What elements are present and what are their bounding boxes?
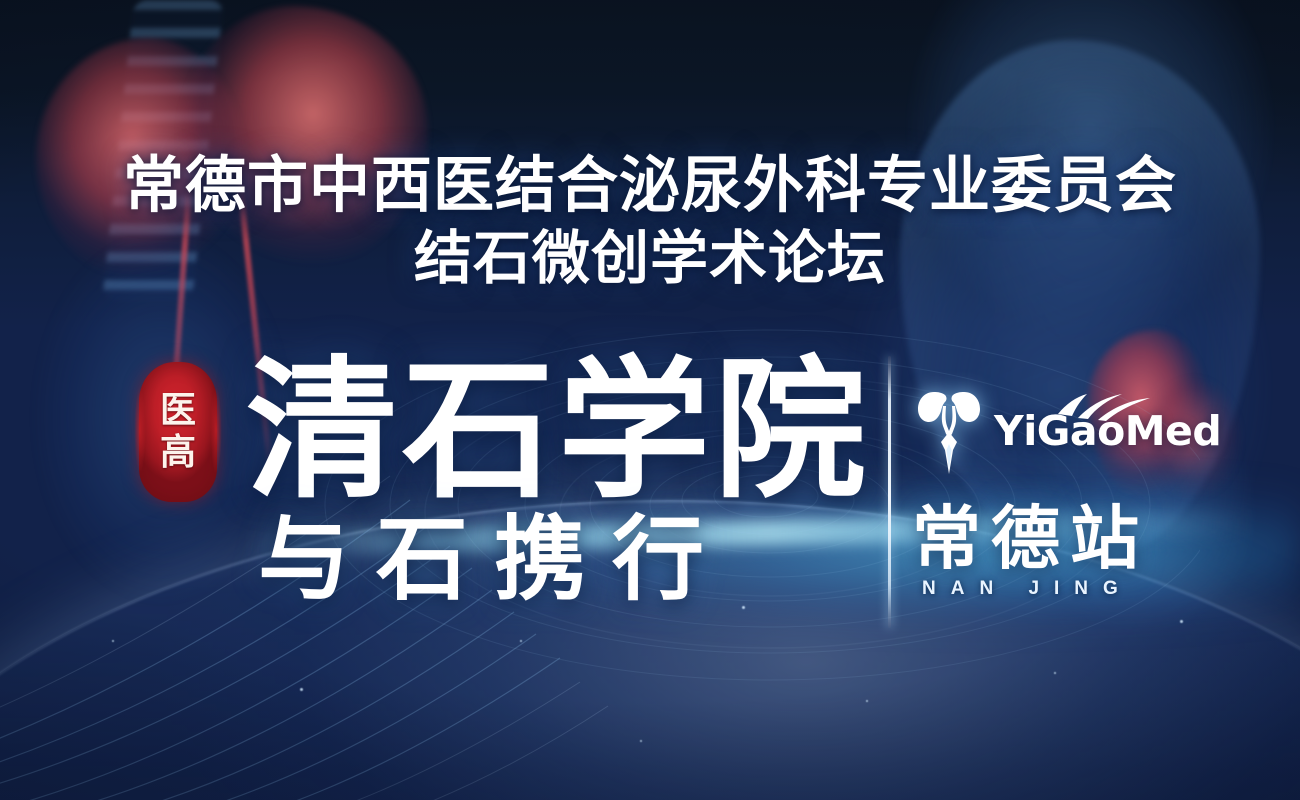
particle-dot <box>866 700 868 702</box>
title-line-2: 结石微创学术论坛 <box>0 222 1300 294</box>
college-name: 清石学院 <box>246 336 870 526</box>
station-name: 常德站 <box>912 498 1149 580</box>
seal-char-top: 医 <box>160 392 196 430</box>
particle-dot <box>640 740 642 742</box>
title-line-1: 常德市中西医结合泌尿外科专业委员会 <box>0 150 1300 222</box>
particle-dot <box>1180 620 1183 623</box>
particle-dot <box>742 606 745 609</box>
particle-dot <box>1054 672 1056 674</box>
particle-dot <box>300 688 303 691</box>
brand-slogan: 与石携行 <box>258 504 730 616</box>
seal-char-bottom: 高 <box>160 434 196 472</box>
sponsor-logo: YiGaoMed <box>912 388 1221 474</box>
particle-dot <box>112 640 114 642</box>
vertical-divider <box>888 356 891 628</box>
swoosh-icon <box>1056 388 1152 422</box>
poster-title-block: 常德市中西医结合泌尿外科专业委员会 结石微创学术论坛 <box>0 150 1300 294</box>
event-poster: 常德市中西医结合泌尿外科专业委员会 结石微创学术论坛 医 高 清石学院 与石携行 <box>0 0 1300 800</box>
kidney-pen-icon <box>912 388 986 474</box>
particle-dot <box>520 640 522 642</box>
station-romanization: NAN JING <box>922 578 1133 600</box>
red-seal-badge: 医 高 <box>139 362 217 502</box>
